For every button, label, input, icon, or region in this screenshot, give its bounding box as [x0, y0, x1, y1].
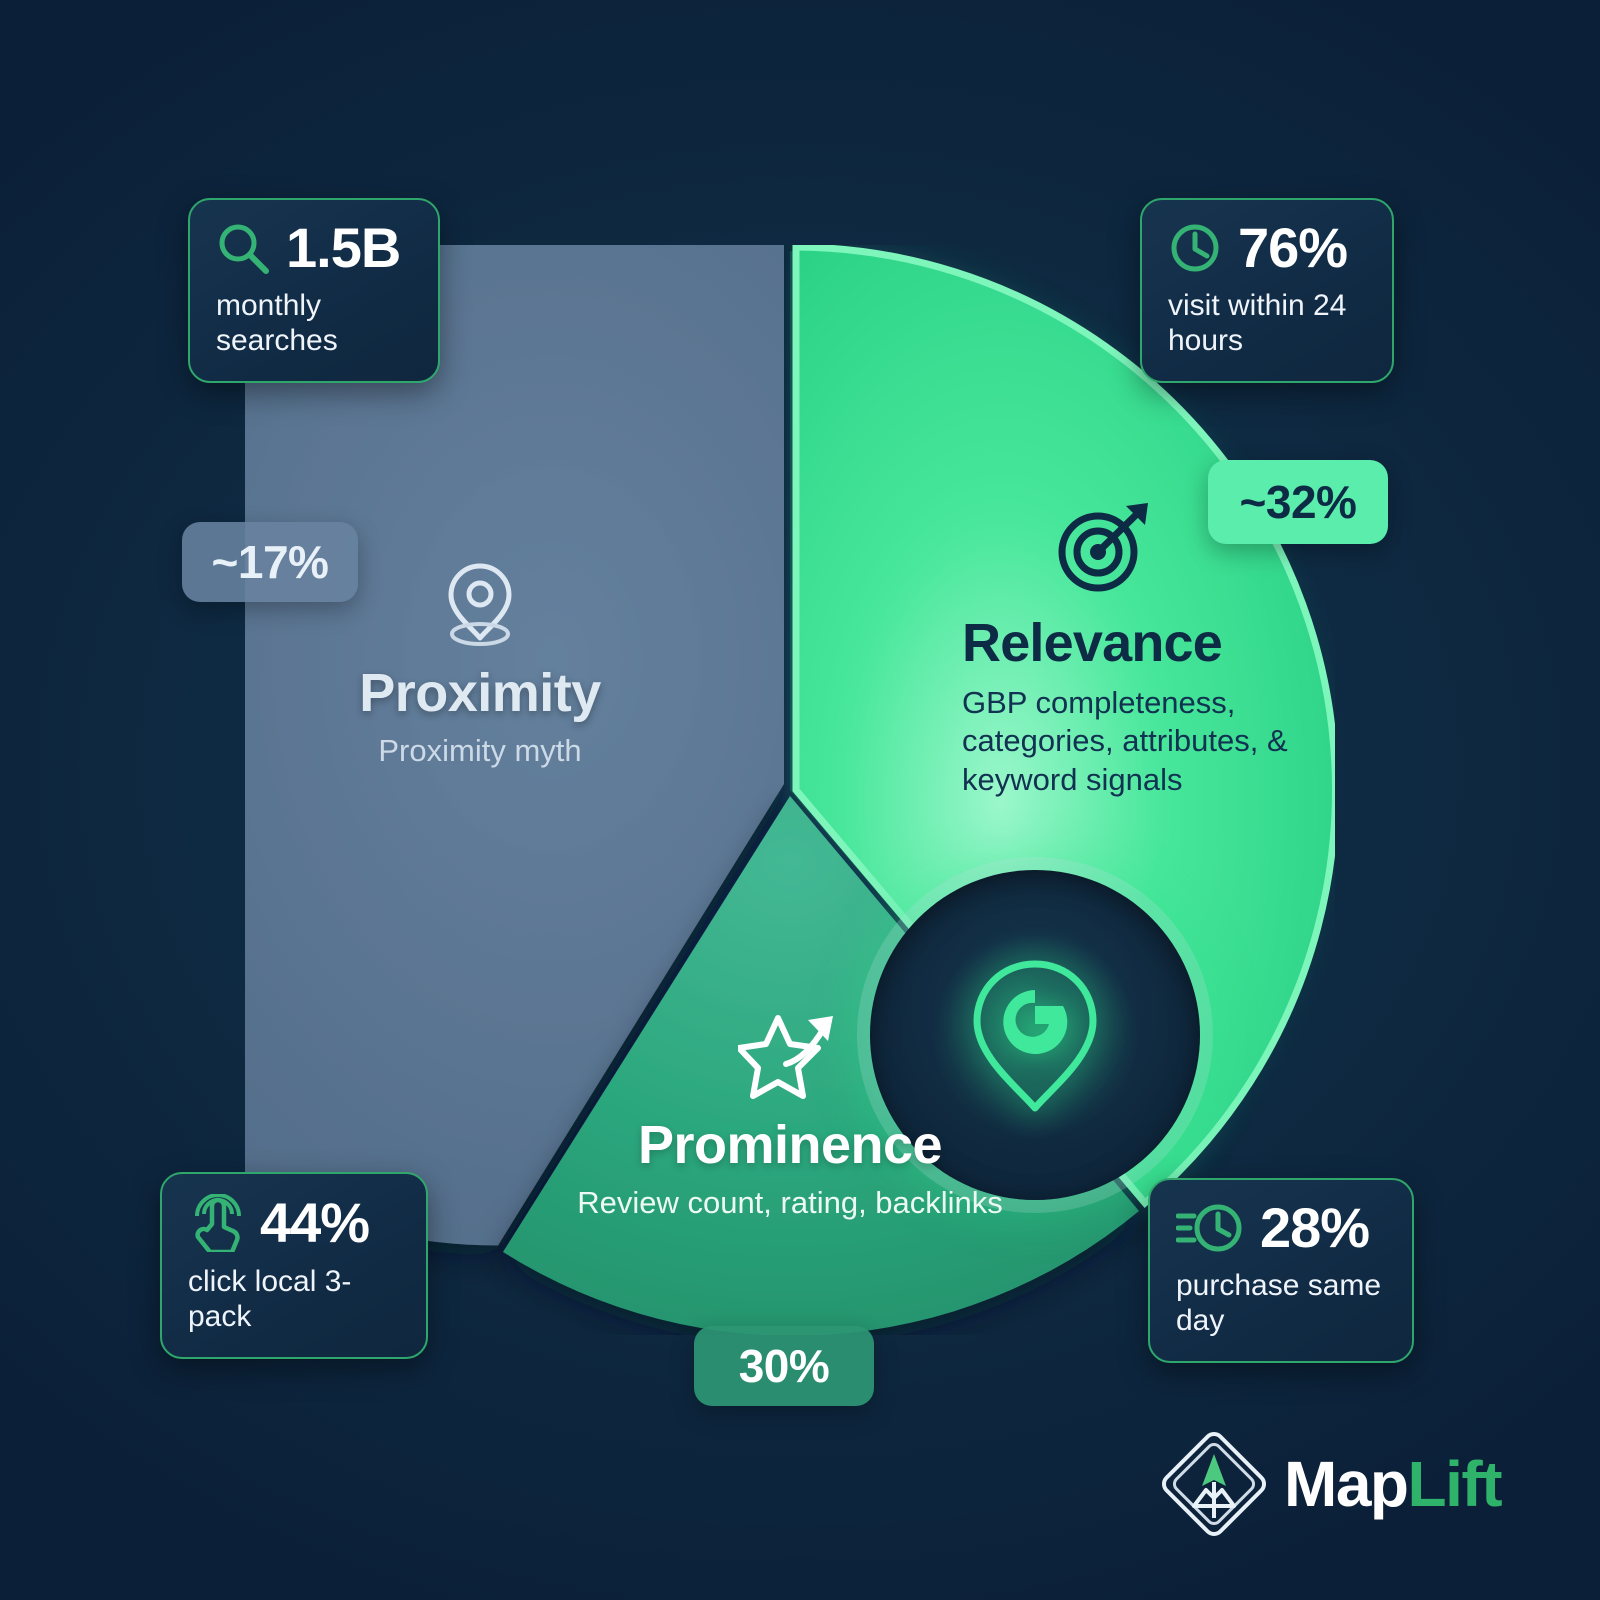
clock-icon: [1168, 221, 1222, 275]
stat-value: 76%: [1238, 220, 1347, 276]
stat-label: purchase same day: [1176, 1268, 1386, 1339]
stat-top-row: 76%: [1168, 220, 1366, 276]
maplift-logo[interactable]: MapLift: [1160, 1430, 1501, 1538]
segment-description: Proximity myth: [300, 732, 660, 770]
stat-label: click local 3-pack: [188, 1264, 400, 1335]
stat-label: visit within 24 hours: [1168, 288, 1366, 359]
stat-value: 44%: [260, 1195, 369, 1251]
stat-top-row: 1.5B: [216, 220, 412, 276]
badge-prominence-percent: 30%: [694, 1326, 874, 1406]
stat-top-row: 28%: [1176, 1200, 1386, 1256]
maplift-mark-icon: [1160, 1430, 1268, 1538]
map-pin-icon: [439, 560, 521, 652]
stat-value: 28%: [1260, 1200, 1369, 1256]
fast-clock-icon: [1176, 1201, 1244, 1255]
logo-wordmark: MapLift: [1284, 1452, 1501, 1516]
stat-card-monthly-searches[interactable]: 1.5B monthly searches: [188, 198, 440, 383]
stat-card-visit-within-24h[interactable]: 76% visit within 24 hours: [1140, 198, 1394, 383]
logo-text-map: Map: [1284, 1448, 1408, 1520]
segment-label-relevance: Relevance GBP completeness, categories, …: [962, 500, 1362, 799]
stat-card-click-local-3pack[interactable]: 44% click local 3-pack: [160, 1172, 428, 1359]
star-arrow-icon: [738, 1010, 842, 1104]
badge-relevance-percent: ~32%: [1208, 460, 1388, 544]
tap-finger-icon: [188, 1194, 244, 1252]
logo-text-lift: Lift: [1408, 1448, 1502, 1520]
stat-top-row: 44%: [188, 1194, 400, 1252]
search-icon: [216, 221, 270, 275]
badge-proximity-percent: ~17%: [182, 522, 358, 602]
stat-label: monthly searches: [216, 288, 412, 359]
segment-title: Prominence: [545, 1114, 1035, 1176]
google-map-pin-icon: [960, 950, 1110, 1120]
target-icon: [1050, 500, 1158, 598]
segment-description: Review count, rating, backlinks: [545, 1184, 1035, 1222]
segment-description: GBP completeness, categories, attributes…: [962, 684, 1362, 799]
segment-title: Relevance: [962, 612, 1362, 674]
stat-value: 1.5B: [286, 220, 400, 276]
segment-title: Proximity: [300, 662, 660, 724]
infographic-canvas: Proximity Proximity myth Relevance GBP c…: [0, 0, 1600, 1600]
stat-card-purchase-same-day[interactable]: 28% purchase same day: [1148, 1178, 1414, 1363]
